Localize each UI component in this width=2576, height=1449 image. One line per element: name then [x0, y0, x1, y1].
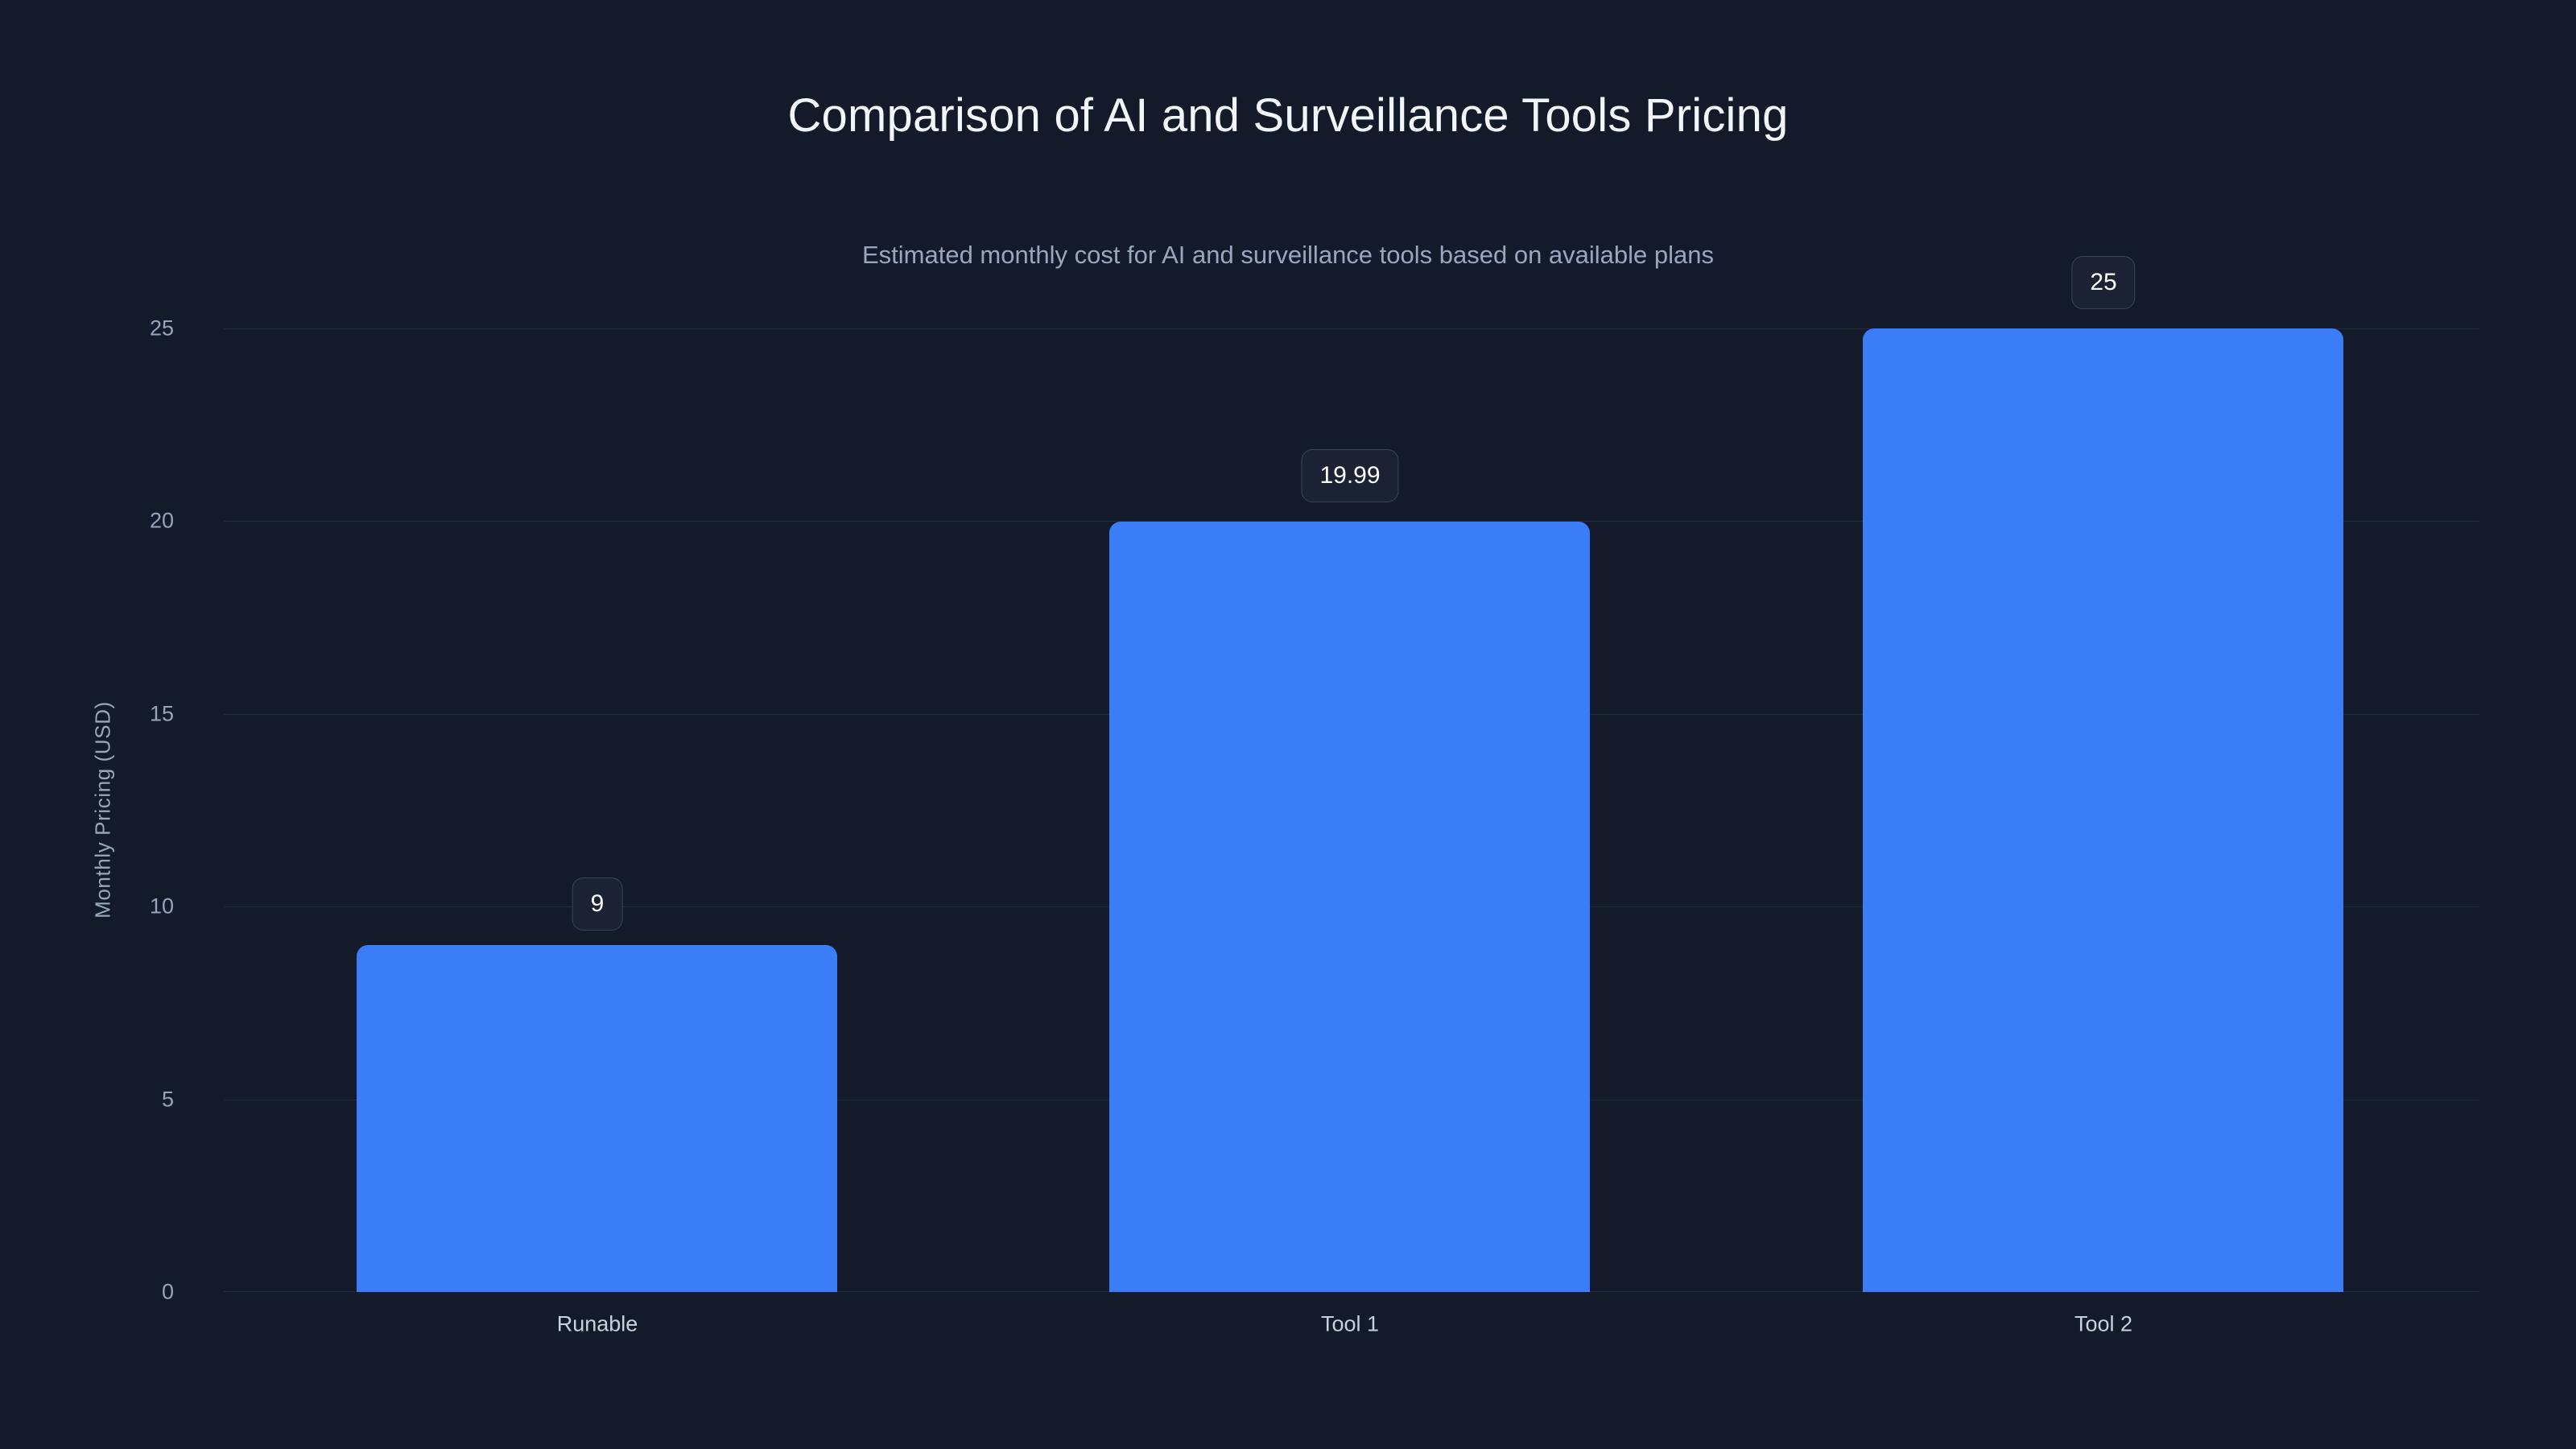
y-tick-label-20: 20	[150, 509, 174, 534]
chart-title: Comparison of AI and Surveillance Tools …	[0, 90, 2576, 142]
bar-chart: Comparison of AI and Surveillance Tools …	[0, 0, 2576, 1449]
y-tick-label-25: 25	[150, 316, 174, 341]
y-tick-label-0: 0	[162, 1280, 174, 1305]
value-label-tool-1: 19.99	[1301, 449, 1398, 502]
bar-tool-1[interactable]	[1109, 522, 1590, 1292]
y-axis-tick-labels: 0 5 10 15 20 25	[0, 328, 198, 1292]
x-tick-label-tool-1: Tool 1	[1321, 1312, 1379, 1337]
value-label-runable: 9	[572, 877, 623, 931]
x-tick-label-tool-2: Tool 2	[2074, 1312, 2132, 1337]
value-label-tool-2: 25	[2071, 256, 2135, 309]
y-tick-label-15: 15	[150, 701, 174, 726]
y-tick-label-10: 10	[150, 894, 174, 919]
x-tick-label-runable: Runable	[557, 1312, 638, 1337]
y-tick-label-5: 5	[162, 1087, 174, 1112]
chart-subtitle: Estimated monthly cost for AI and survei…	[0, 242, 2576, 269]
bar-runable[interactable]	[357, 945, 837, 1292]
bar-tool-2[interactable]	[1863, 328, 2343, 1292]
